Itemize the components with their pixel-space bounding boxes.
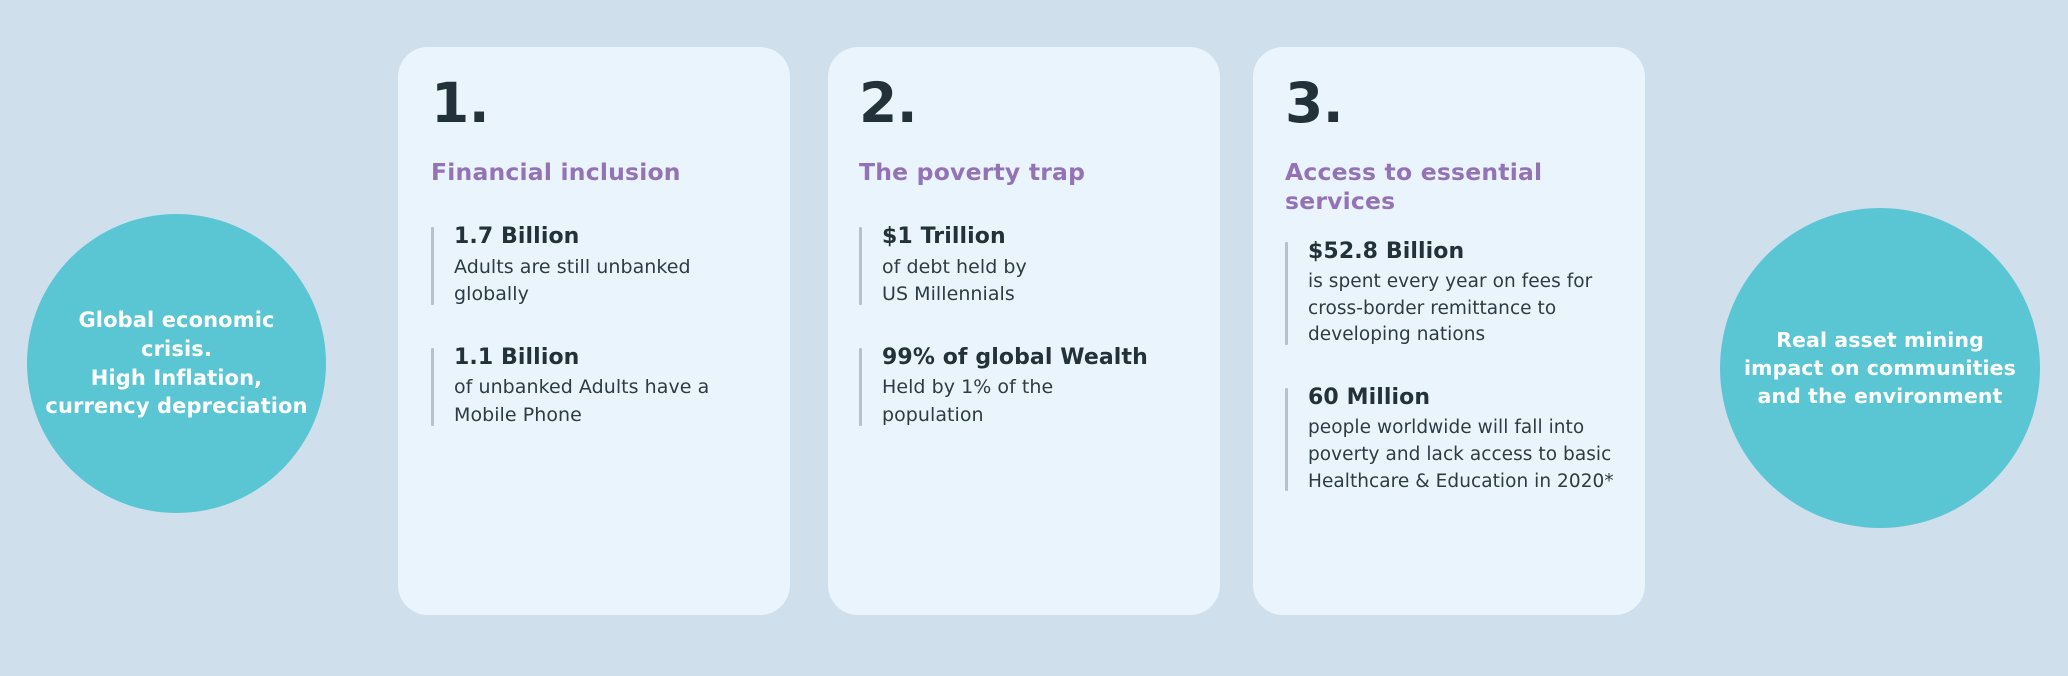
card-1-title: Financial inclusion: [431, 158, 721, 187]
stat-value: 99% of global Wealth: [882, 344, 1184, 373]
stat-value: $52.8 Billion: [1308, 238, 1623, 267]
card-1-stats: 1.7 Billion Adults are still unbanked gl…: [431, 223, 754, 429]
card-2-stats: $1 Trillion of debt held by US Millennia…: [859, 223, 1184, 429]
stat-item: 60 Million people worldwide will fall in…: [1285, 384, 1623, 495]
card-2-number: 2.: [859, 76, 1184, 131]
problem-card-3: 3. Access to essential services $52.8 Bi…: [1253, 47, 1645, 615]
card-3-content: 3. Access to essential services $52.8 Bi…: [1253, 47, 1645, 615]
stat-item: 1.1 Billion of unbanked Adults have a Mo…: [431, 344, 754, 430]
stat-item: 99% of global Wealth Held by 1% of the p…: [859, 344, 1184, 430]
card-2-title: The poverty trap: [859, 158, 1149, 187]
stat-description: people worldwide will fall into poverty …: [1308, 415, 1623, 495]
problem-card-1: 1. Financial inclusion 1.7 Billion Adult…: [398, 47, 790, 615]
problem-card-2: 2. The poverty trap $1 Trillion of debt …: [828, 47, 1220, 615]
stat-item: 1.7 Billion Adults are still unbanked gl…: [431, 223, 754, 309]
stat-value: 60 Million: [1308, 384, 1623, 413]
card-1-number: 1.: [431, 76, 754, 131]
stat-description: Adults are still unbanked globally: [454, 254, 754, 309]
right-context-circle: Real asset mining impact on communities …: [1720, 208, 2040, 528]
stat-description: of unbanked Adults have a Mobile Phone: [454, 374, 754, 429]
card-2-content: 2. The poverty trap $1 Trillion of debt …: [828, 47, 1220, 615]
card-3-title: Access to essential services: [1285, 158, 1575, 216]
stat-description: is spent every year on fees for cross-bo…: [1308, 269, 1623, 349]
card-3-number: 3.: [1285, 76, 1623, 131]
stat-description: of debt held by US Millennials: [882, 254, 1184, 309]
stat-item: $52.8 Billion is spent every year on fee…: [1285, 238, 1623, 349]
infographic-canvas: Global economic crisis. High Inflation, …: [0, 0, 2068, 676]
stat-value: $1 Trillion: [882, 223, 1184, 252]
right-circle-text: Real asset mining impact on communities …: [1720, 326, 2040, 410]
stat-value: 1.1 Billion: [454, 344, 754, 373]
card-1-content: 1. Financial inclusion 1.7 Billion Adult…: [398, 47, 790, 615]
left-circle-text: Global economic crisis. High Inflation, …: [27, 306, 326, 421]
stat-description: Held by 1% of the population: [882, 374, 1184, 429]
stat-value: 1.7 Billion: [454, 223, 754, 252]
stat-item: $1 Trillion of debt held by US Millennia…: [859, 223, 1184, 309]
card-3-stats: $52.8 Billion is spent every year on fee…: [1285, 238, 1623, 495]
left-context-circle: Global economic crisis. High Inflation, …: [27, 214, 326, 513]
